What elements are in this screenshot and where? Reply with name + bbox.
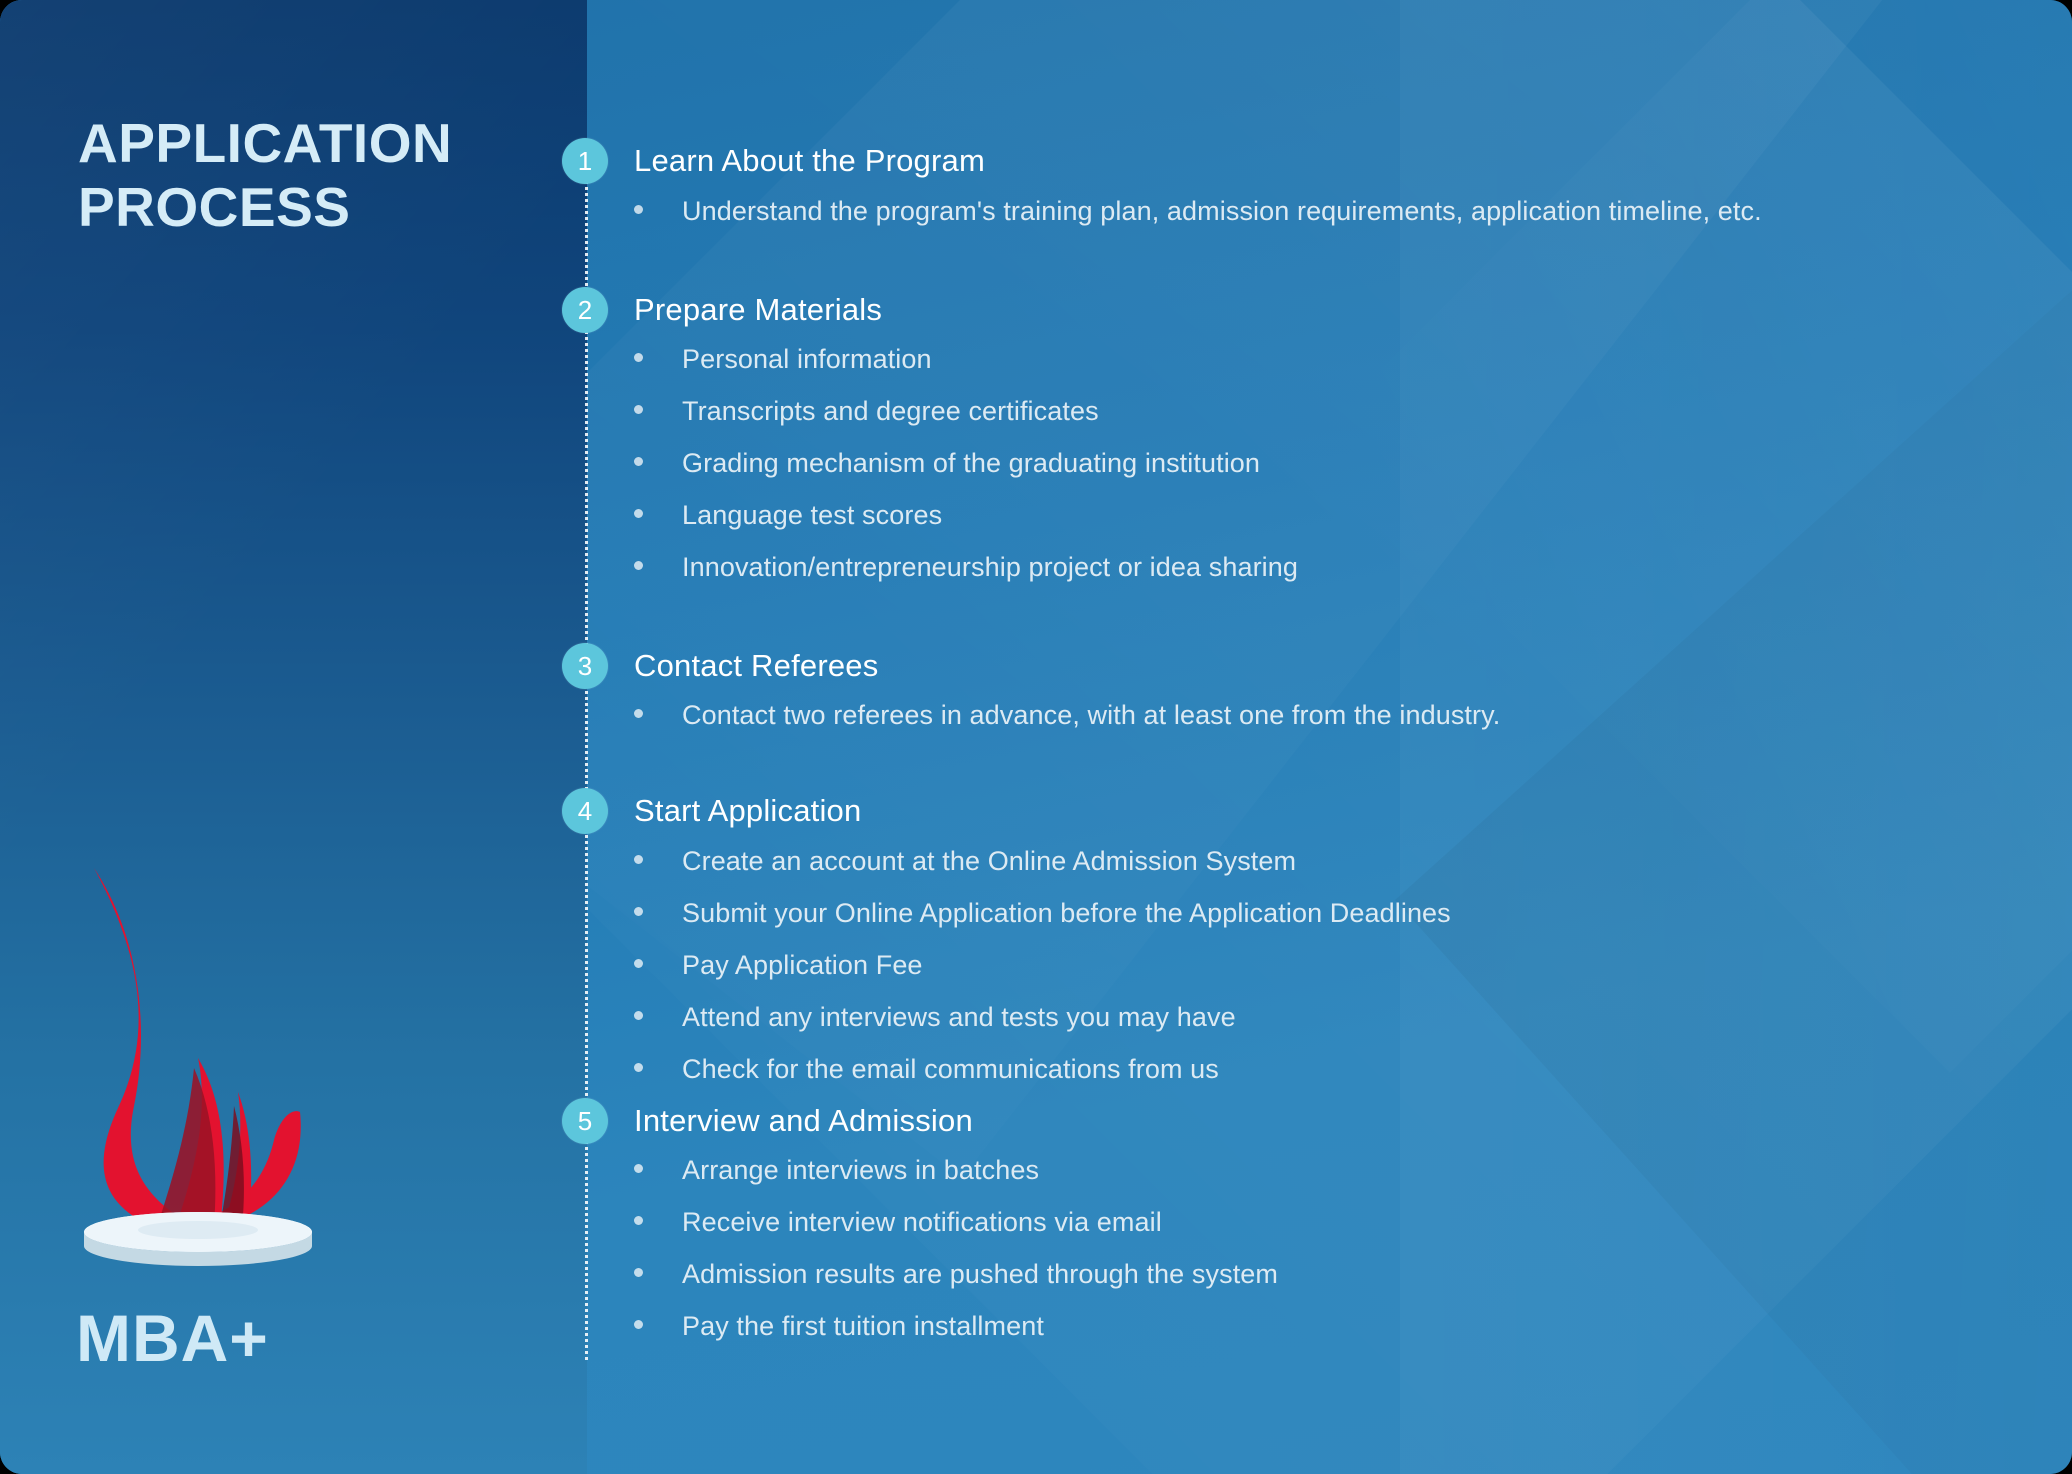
bullet-dot-icon [634,405,643,414]
bullet-dot-icon [634,205,643,214]
list-item: Admission results are pushed through the… [634,1259,1278,1290]
bullet-dot-icon [634,457,643,466]
step-title-1: Learn About the Program [634,143,985,179]
step-marker-5[interactable]: 5 [562,1098,608,1144]
list-item: Pay the first tuition installment [634,1311,1044,1342]
list-item: Understand the program's training plan, … [634,196,1762,227]
bullet-text: Check for the email communications from … [682,1054,1219,1085]
bullet-text: Language test scores [682,500,942,531]
bullet-dot-icon [634,1164,643,1173]
bullet-text: Receive interview notifications via emai… [682,1207,1162,1238]
list-item: Personal information [634,344,932,375]
bullet-dot-icon [634,1063,643,1072]
list-item: Pay Application Fee [634,950,923,981]
step-title-3: Contact Referees [634,648,878,684]
list-item: Arrange interviews in batches [634,1155,1039,1186]
bullet-text: Grading mechanism of the graduating inst… [682,448,1260,479]
bullet-text: Pay the first tuition installment [682,1311,1044,1342]
steps-list: 1Learn About the ProgramUnderstand the p… [0,0,2072,1474]
bullet-text: Personal information [682,344,932,375]
bullet-dot-icon [634,1268,643,1277]
step-marker-4[interactable]: 4 [562,788,608,834]
bullet-dot-icon [634,959,643,968]
bullet-text: Admission results are pushed through the… [682,1259,1278,1290]
list-item: Grading mechanism of the graduating inst… [634,448,1260,479]
bullet-text: Innovation/entrepreneurship project or i… [682,552,1298,583]
application-process-slide: APPLICATION PROCESS MBA+ 1Learn About th… [0,0,2072,1474]
bullet-dot-icon [634,907,643,916]
bullet-text: Understand the program's training plan, … [682,196,1762,227]
bullet-text: Attend any interviews and tests you may … [682,1002,1236,1033]
bullet-text: Pay Application Fee [682,950,923,981]
bullet-dot-icon [634,1320,643,1329]
step-title-2: Prepare Materials [634,292,882,328]
bullet-dot-icon [634,1011,643,1020]
bullet-dot-icon [634,1216,643,1225]
bullet-dot-icon [634,709,643,718]
bullet-dot-icon [634,855,643,864]
list-item: Create an account at the Online Admissio… [634,846,1296,877]
bullet-text: Contact two referees in advance, with at… [682,700,1500,731]
list-item: Transcripts and degree certificates [634,396,1099,427]
step-marker-1[interactable]: 1 [562,138,608,184]
step-title-5: Interview and Admission [634,1103,973,1139]
bullet-dot-icon [634,353,643,362]
bullet-text: Transcripts and degree certificates [682,396,1099,427]
list-item: Submit your Online Application before th… [634,898,1451,929]
step-marker-2[interactable]: 2 [562,287,608,333]
list-item: Check for the email communications from … [634,1054,1219,1085]
bullet-text: Submit your Online Application before th… [682,898,1451,929]
step-title-4: Start Application [634,793,861,829]
list-item: Receive interview notifications via emai… [634,1207,1162,1238]
list-item: Innovation/entrepreneurship project or i… [634,552,1298,583]
bullet-text: Arrange interviews in batches [682,1155,1039,1186]
bullet-dot-icon [634,561,643,570]
step-marker-3[interactable]: 3 [562,643,608,689]
list-item: Language test scores [634,500,942,531]
bullet-dot-icon [634,509,643,518]
list-item: Contact two referees in advance, with at… [634,700,1500,731]
bullet-text: Create an account at the Online Admissio… [682,846,1296,877]
list-item: Attend any interviews and tests you may … [634,1002,1236,1033]
